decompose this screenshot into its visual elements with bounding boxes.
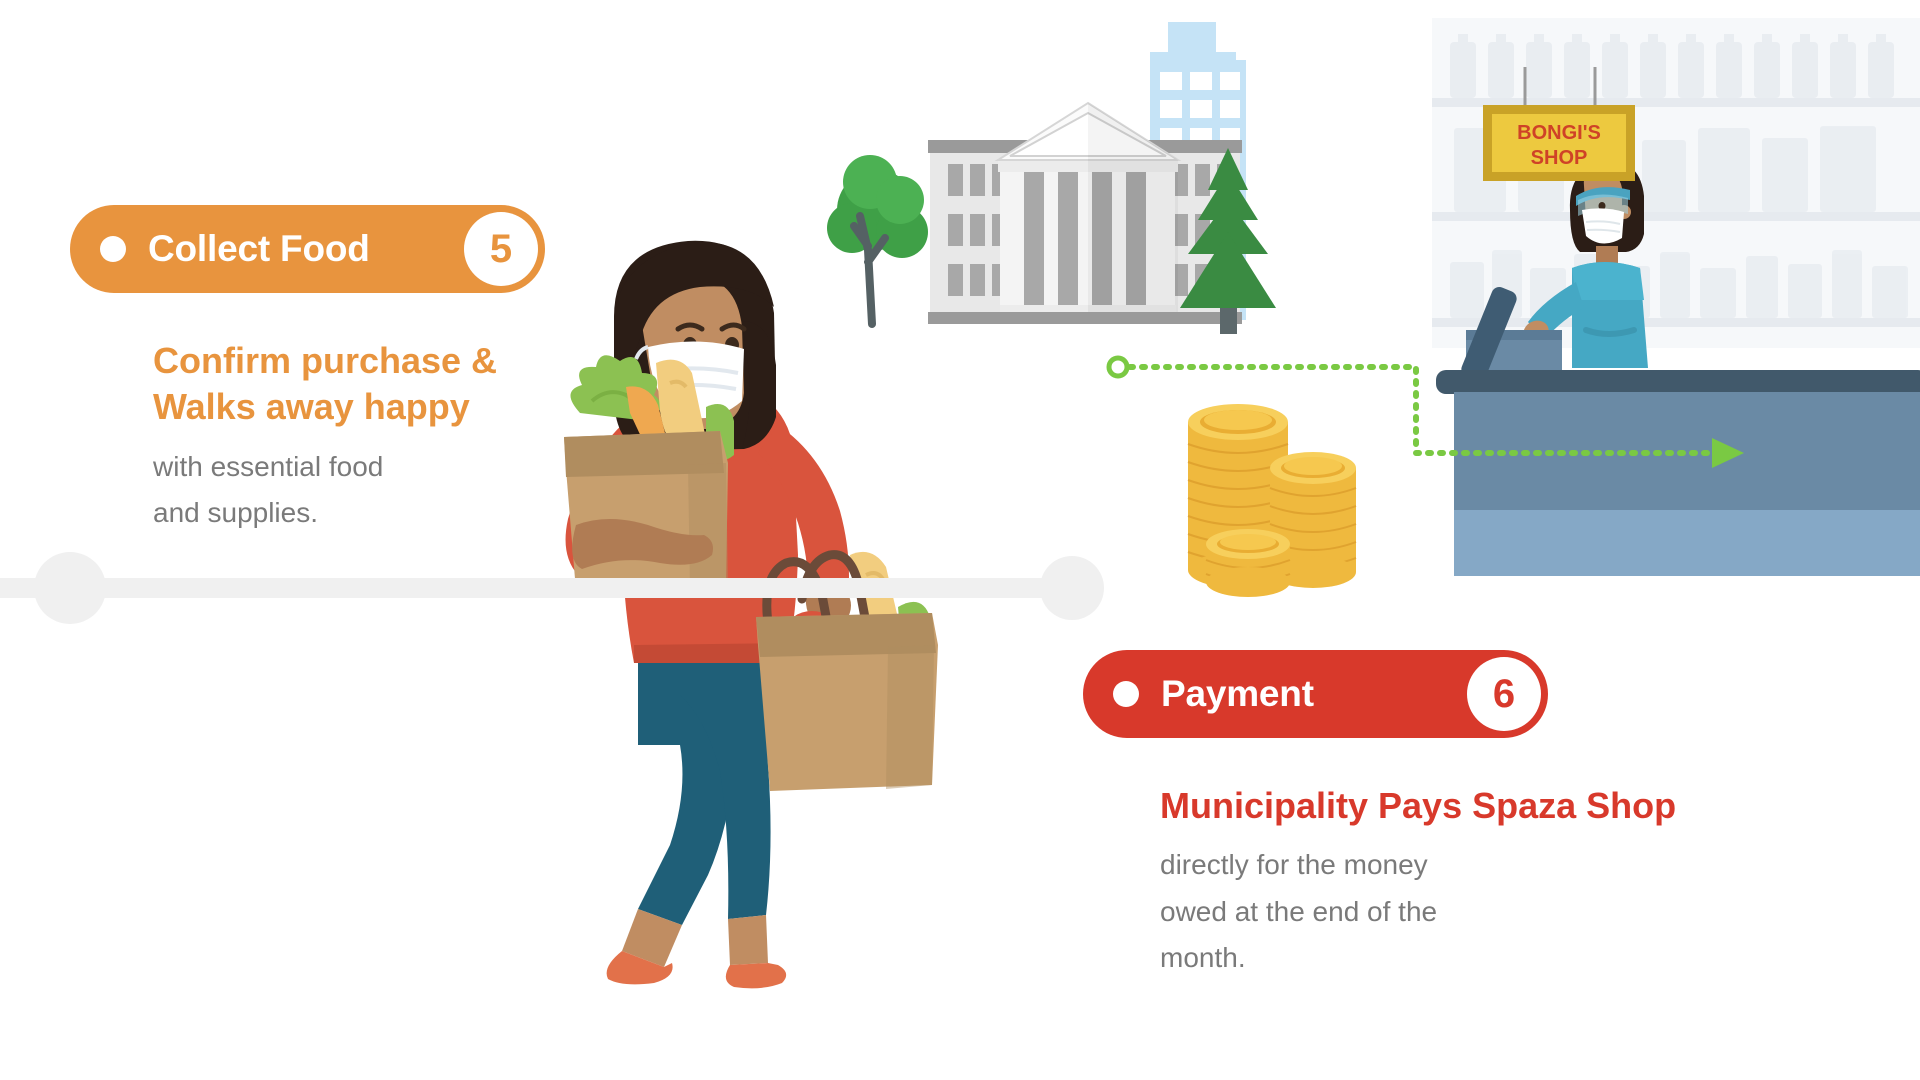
timeline-node-1 bbox=[34, 552, 106, 624]
payment-body-line-2: owed at the end of the bbox=[1160, 889, 1676, 935]
collect-body-line-2: and supplies. bbox=[153, 490, 497, 536]
badge-number-6: 6 bbox=[1493, 672, 1515, 717]
process-timeline-bar bbox=[0, 578, 1060, 598]
legs bbox=[607, 655, 787, 988]
badge-number-circle-5: 5 bbox=[464, 212, 538, 286]
step-text-collect-food: Confirm purchase & Walks away happy with… bbox=[153, 338, 497, 536]
timeline-node-2 bbox=[1040, 556, 1104, 620]
badge-number-circle-6: 6 bbox=[1467, 657, 1541, 731]
shop-sign-line2: SHOP bbox=[1531, 147, 1588, 169]
badge-bullet-icon bbox=[100, 236, 126, 262]
payment-body-line-1: directly for the money bbox=[1160, 842, 1676, 888]
step-badge-collect-food[interactable]: Collect Food 5 bbox=[70, 205, 545, 293]
step-badge-payment[interactable]: Payment 6 bbox=[1083, 650, 1548, 738]
shopper-woman-illustration bbox=[530, 225, 950, 985]
badge-number-5: 5 bbox=[490, 227, 512, 272]
flow-arrowhead bbox=[1712, 438, 1744, 468]
collect-body-line-1: with essential food bbox=[153, 444, 497, 490]
badge-label-collect-food: Collect Food bbox=[148, 228, 370, 270]
payment-heading-line-1: Municipality Pays Spaza Shop bbox=[1160, 783, 1676, 829]
collect-heading-line-1: Confirm purchase & bbox=[153, 338, 497, 384]
shop-sign-line1: BONGI'S bbox=[1517, 122, 1601, 144]
flow-start-node bbox=[1109, 358, 1127, 376]
step-text-payment: Municipality Pays Spaza Shop directly fo… bbox=[1160, 783, 1676, 981]
badge-label-payment: Payment bbox=[1161, 673, 1314, 715]
collect-heading-line-2: Walks away happy bbox=[153, 384, 497, 430]
badge-bullet-icon bbox=[1113, 681, 1139, 707]
payment-body-line-3: month. bbox=[1160, 935, 1676, 981]
infographic-canvas: BONGI'S SHOP bbox=[0, 0, 1920, 1080]
payment-flow-arrow bbox=[1080, 330, 1740, 580]
shop-sign: BONGI'S SHOP bbox=[1483, 85, 1635, 185]
